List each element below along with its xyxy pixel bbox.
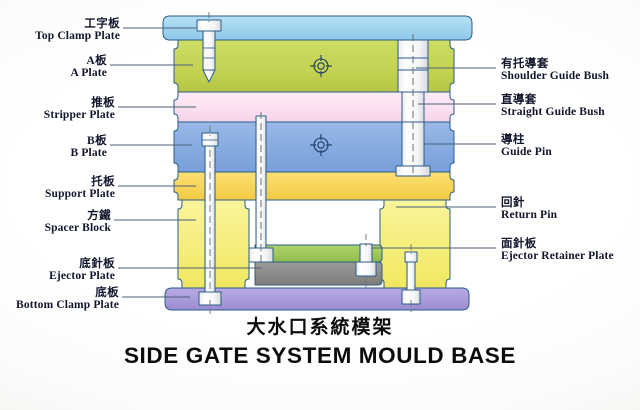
label-b-plate: B板 B Plate xyxy=(0,136,107,160)
label-ejector-plate: 底針板 Ejector Plate xyxy=(0,259,115,283)
label-bottom-clamp-plate: 底板 Bottom Clamp Plate xyxy=(0,288,119,312)
label-guide-pin: 導柱 Guide Pin xyxy=(501,135,552,159)
label-support-plate: 托板 Support Plate xyxy=(0,177,115,201)
label-shoulder-guide-bush: 有托導套 Shoulder Guide Bush xyxy=(501,59,609,83)
label-en: Bottom Clamp Plate xyxy=(0,300,119,312)
label-en: Support Plate xyxy=(0,189,115,201)
title-cn: 大水口系統模架 xyxy=(0,312,640,339)
label-en: Straight Guide Bush xyxy=(501,107,605,119)
label-en: Shoulder Guide Bush xyxy=(501,71,609,83)
label-en: Ejector Retainer Plate xyxy=(501,251,614,263)
label-en: Return Pin xyxy=(501,210,557,222)
label-ejector-retainer-plate: 面針板 Ejector Retainer Plate xyxy=(501,239,614,263)
label-en: Spacer Block xyxy=(0,223,111,235)
label-en: Top Clamp Plate xyxy=(0,31,120,43)
diagram-canvas: 工字板 Top Clamp Plate A板 A Plate 推板 Stripp… xyxy=(0,0,640,410)
label-straight-guide-bush: 直導套 Straight Guide Bush xyxy=(501,95,605,119)
label-en: B Plate xyxy=(0,148,107,160)
label-a-plate: A板 A Plate xyxy=(0,56,107,80)
diagram-title: 大水口系統模架 SIDE GATE SYSTEM MOULD BASE xyxy=(0,312,640,369)
label-en: Stripper Plate xyxy=(0,110,115,122)
label-spacer-block: 方鐵 Spacer Block xyxy=(0,211,111,235)
label-en: Ejector Plate xyxy=(0,271,115,283)
label-stripper-plate: 推板 Stripper Plate xyxy=(0,98,115,122)
label-return-pin: 回針 Return Pin xyxy=(501,198,557,222)
label-top-clamp-plate: 工字板 Top Clamp Plate xyxy=(0,19,120,43)
title-en: SIDE GATE SYSTEM MOULD BASE xyxy=(0,343,640,369)
label-en: Guide Pin xyxy=(501,147,552,159)
label-en: A Plate xyxy=(0,68,107,80)
